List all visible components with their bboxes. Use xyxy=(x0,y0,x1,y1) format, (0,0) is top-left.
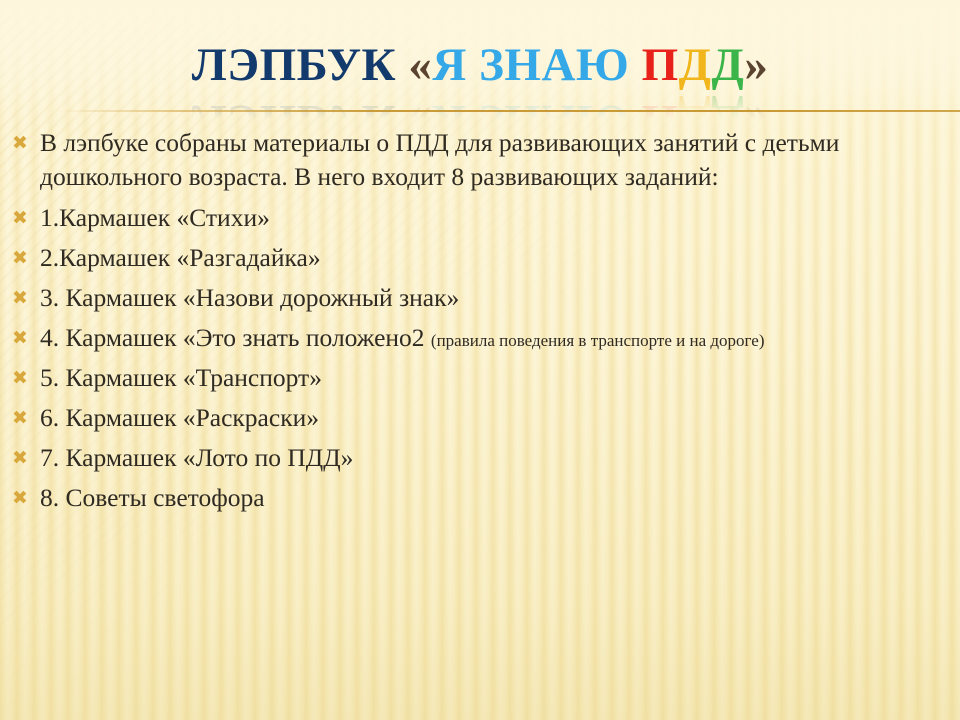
title-reflect-space xyxy=(396,95,408,122)
slide-canvas: ЛЭПБУК «Я ЗНАЮ ПДД» ЛЭПБУК «Я ЗНАЮ ПДД» … xyxy=(0,0,960,720)
list-item-text: 2.Кармашек «Разгадайка» xyxy=(40,241,938,274)
title-seg-lapbook: ЛЭПБУК xyxy=(192,39,396,91)
list-item: ✖ 1.Кармашек «Стихи» xyxy=(0,201,960,234)
page-title: ЛЭПБУК «Я ЗНАЮ ПДД» xyxy=(0,36,960,94)
title-quote-open: « xyxy=(408,39,432,91)
bullet-cross-icon: ✖ xyxy=(12,324,34,353)
list-item-text: В лэпбуке собраны материалы о ПДД для ра… xyxy=(40,126,938,194)
title-quote-close: » xyxy=(744,39,768,91)
bullet-cross-icon: ✖ xyxy=(12,444,34,473)
list-item: ✖ 6. Кармашек «Раскраски» xyxy=(0,401,960,434)
title-reflect-letter-d1: Д xyxy=(679,95,712,122)
bullet-cross-icon: ✖ xyxy=(12,204,34,233)
list-item: ✖ 7. Кармашек «Лото по ПДД» xyxy=(0,441,960,474)
title-divider-rule xyxy=(58,110,960,112)
title-reflect-quote-close: » xyxy=(744,95,768,122)
title-letter-d2: Д xyxy=(711,39,744,91)
list-item-text: 1.Кармашек «Стихи» xyxy=(40,201,938,234)
bullet-cross-icon: ✖ xyxy=(12,129,34,158)
list-item-text: 6. Кармашек «Раскраски» xyxy=(40,401,938,434)
title-space-1 xyxy=(396,39,408,91)
list-item: ✖ 3. Кармашек «Назови дорожный знак» xyxy=(0,281,960,314)
list-item-note: (правила поведения в транспорте и на дор… xyxy=(431,331,765,350)
list-item-text: 5. Кармашек «Транспорт» xyxy=(40,361,938,394)
list-item-text: 8. Советы светофора xyxy=(40,481,938,514)
list-item-text: 4. Кармашек «Это знать положено2 (правил… xyxy=(40,321,938,354)
list-item-text: 7. Кармашек «Лото по ПДД» xyxy=(40,441,938,474)
list-item: ✖ 5. Кармашек «Транспорт» xyxy=(0,361,960,394)
bullet-cross-icon: ✖ xyxy=(12,404,34,433)
title-reflect-space2 xyxy=(629,95,641,122)
title-reflect-seg-lapbook: ЛЭПБУК xyxy=(192,95,396,122)
title-reflect-letter-d2: Д xyxy=(711,95,744,122)
list-item-main-text: 4. Кармашек «Это знать положено2 xyxy=(40,323,431,352)
title-reflect-quote-open: « xyxy=(408,95,432,122)
title-reflect-seg-yaznayu: Я ЗНАЮ xyxy=(432,95,629,122)
bullet-cross-icon: ✖ xyxy=(12,364,34,393)
list-item: ✖ В лэпбуке собраны материалы о ПДД для … xyxy=(0,126,960,194)
bullet-cross-icon: ✖ xyxy=(12,284,34,313)
bullet-list: ✖ В лэпбуке собраны материалы о ПДД для … xyxy=(0,126,960,514)
slide-title-block: ЛЭПБУК «Я ЗНАЮ ПДД» xyxy=(0,36,960,94)
list-item: ✖ 8. Советы светофора xyxy=(0,481,960,514)
list-item-text: 3. Кармашек «Назови дорожный знак» xyxy=(40,281,938,314)
bullet-cross-icon: ✖ xyxy=(12,484,34,513)
slide-content: ✖ В лэпбуке собраны материалы о ПДД для … xyxy=(0,126,960,521)
bullet-cross-icon: ✖ xyxy=(12,244,34,273)
title-space-2 xyxy=(629,39,641,91)
title-letter-p: П xyxy=(642,39,679,91)
list-item: ✖ 4. Кармашек «Это знать положено2 (прав… xyxy=(0,321,960,354)
title-letter-d1: Д xyxy=(679,39,712,91)
title-reflect-letter-p: П xyxy=(642,95,679,122)
title-reflection-text: ЛЭПБУК «Я ЗНАЮ ПДД» xyxy=(0,92,960,122)
list-item: ✖ 2.Кармашек «Разгадайка» xyxy=(0,241,960,274)
title-seg-yaznayu: Я ЗНАЮ xyxy=(432,39,629,91)
title-reflection: ЛЭПБУК «Я ЗНАЮ ПДД» xyxy=(0,92,960,122)
